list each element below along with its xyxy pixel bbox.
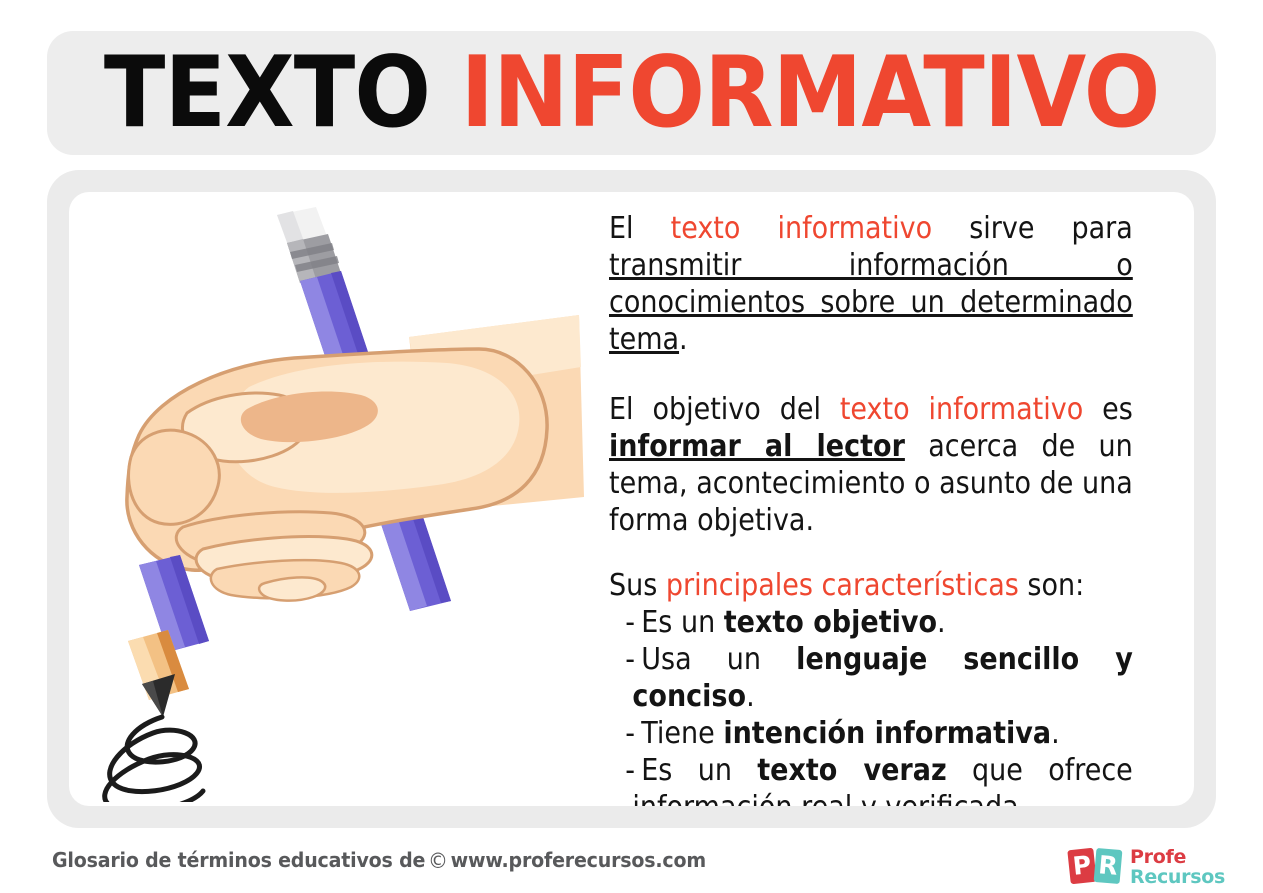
copyright-icon: © [428,849,448,873]
paragraph-characteristics-intro: Sus principales características son: [609,567,1133,604]
p3-seg1: Sus [609,568,666,603]
characteristics-list: -Es un texto objetivo. -Usa un lenguaje … [609,604,1133,806]
p3-seg3: son: [1019,568,1084,603]
logo-square-r-icon: R [1094,848,1123,884]
bullet-text-bold: texto objetivo [724,605,937,640]
logo-square-p-icon: P [1067,848,1096,885]
list-item: -Tiene intención informativa. [609,715,1133,752]
bullet-dash: - [625,605,635,640]
proferecursos-logo[interactable]: P R Profe Recursos [1069,842,1225,892]
hand-shape [127,315,584,601]
footer-credit-label: Glosario de términos educativos de [52,848,425,872]
p2-seg1: El objetivo del [609,392,840,427]
list-item: -Es un texto objetivo. [609,604,1133,641]
logo-word-recursos: Recursos [1130,867,1225,887]
list-item: -Es un texto veraz que ofrece informació… [609,752,1133,806]
bullet-dash: - [625,642,635,677]
logo-marks: P R [1069,847,1123,887]
bullet-dash: - [625,753,635,788]
footer-website: www.proferecursos.com [451,848,706,872]
footer: Glosario de términos educativos de©www.p… [0,838,1263,893]
logo-word-profe: Profe [1130,847,1225,867]
bullet-text-plain2: . [1051,716,1060,751]
title-word-informativo: INFORMATIVO [460,36,1159,150]
bullet-text-plain1: Es un [641,753,757,788]
p2-seg3: es [1083,392,1133,427]
body-panel: El texto informativo sirve para transmit… [47,170,1216,828]
hand-writing-pencil-illustration [79,197,589,802]
bullet-text-plain1: Usa un [641,642,796,677]
bullet-text-plain1: Es un [641,605,724,640]
title-word-texto: TEXTO [104,36,430,150]
header-panel: TEXTO INFORMATIVO [47,31,1216,155]
pencil-lower [128,555,209,717]
article-text-column: El texto informativo sirve para transmit… [609,210,1133,806]
p1-seg3: sirve para [932,211,1133,246]
paragraph-definition: El texto informativo sirve para transmit… [609,210,1133,358]
bullet-text-plain2: . [746,679,755,714]
p2-bold-underlined: informar al lector [609,429,905,464]
page-title: TEXTO INFORMATIVO [104,44,1160,142]
p1-seg5: . [679,322,688,357]
bullet-text-bold: texto veraz [757,753,946,788]
logo-wordmark: Profe Recursos [1130,847,1225,887]
p1-highlight-red: texto informativo [671,211,933,246]
p2-highlight-red: texto informativo [840,392,1083,427]
pencil-scribble [105,717,203,802]
bullet-dash: - [625,716,635,751]
bullet-text-plain2: . [937,605,946,640]
bullet-text-bold: intención informativa [723,716,1051,751]
footer-credit: Glosario de términos educativos de©www.p… [52,848,706,873]
body-card: El texto informativo sirve para transmit… [69,192,1194,806]
bullet-text-plain1: Tiene [641,716,723,751]
list-item: -Usa un lenguaje sencillo y conciso. [609,641,1133,715]
p3-highlight-red: principales características [666,568,1019,603]
paragraph-objective: El objetivo del texto informativo es inf… [609,391,1133,539]
p1-seg1: El [609,211,671,246]
